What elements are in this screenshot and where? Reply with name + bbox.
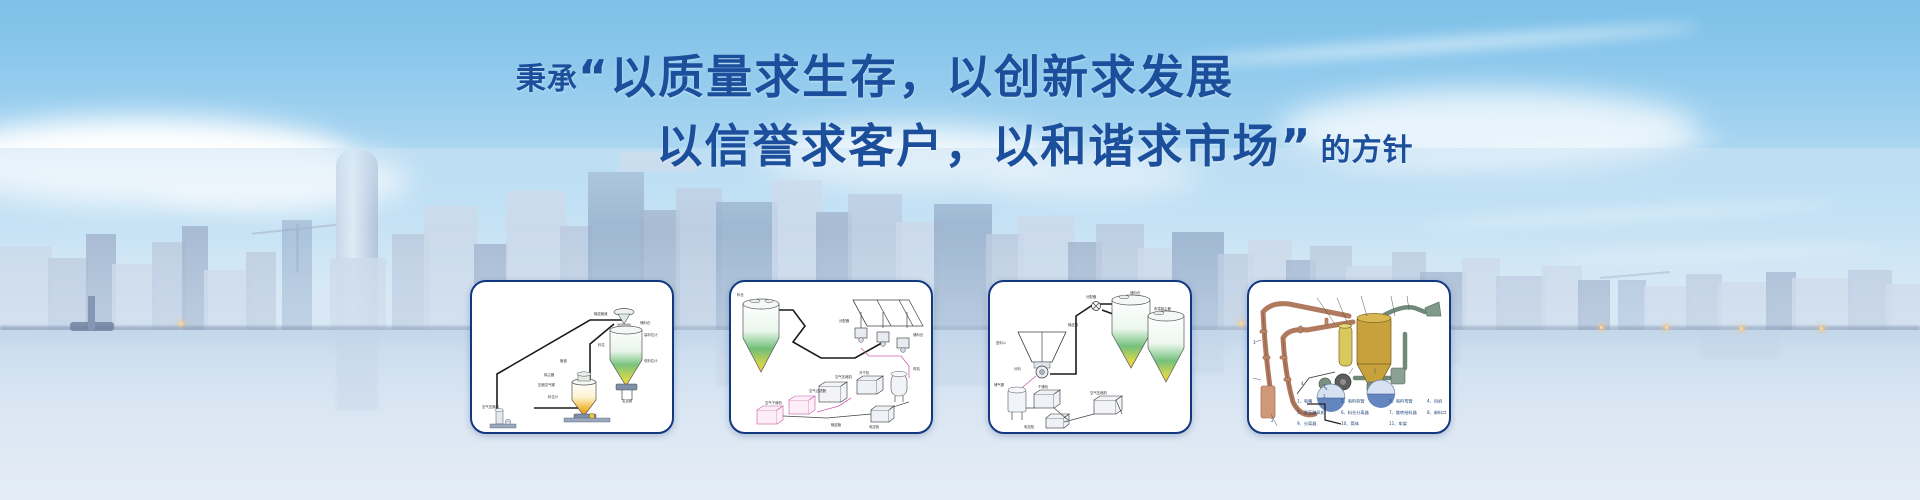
svg-text:4、风机: 4、风机 [1427, 398, 1443, 405]
svg-text:电控柜: 电控柜 [869, 424, 880, 429]
product-card-row: 输送管道 储料仓 高料位计 低料位计 料位 发送罐 除尘器 压缩空气罐 料位计 … [0, 280, 1920, 434]
svg-text:10、筒体: 10、筒体 [1341, 420, 1360, 427]
svg-text:除尘器: 除尘器 [544, 372, 555, 377]
svg-text:冷干机: 冷干机 [859, 370, 870, 375]
svg-text:低料位计: 低料位计 [644, 358, 658, 363]
svg-text:8、卸料口: 8、卸料口 [1427, 409, 1446, 416]
construction-crane-2 [1600, 271, 1670, 279]
svg-text:2: 2 [1271, 418, 1274, 423]
svg-text:2、吸料软管: 2、吸料软管 [1341, 398, 1365, 405]
svg-text:风机: 风机 [913, 366, 920, 371]
svg-text:空气干燥机: 空气干燥机 [765, 400, 783, 405]
product-card-2[interactable]: 料仓 分配器 储料仓 风机 冷干机 空气压缩机 空气过滤器 空气干燥机 电控柜 … [729, 280, 933, 434]
svg-text:料仓: 料仓 [737, 292, 744, 297]
svg-text:分配器: 分配器 [839, 318, 850, 323]
diagram-pneumatic-conveying-1: 输送管道 储料仓 高料位计 低料位计 料位 发送罐 除尘器 压缩空气罐 料位计 … [472, 282, 672, 432]
svg-text:分配器: 分配器 [1086, 294, 1097, 299]
svg-text:干燥机: 干燥机 [1038, 384, 1049, 389]
svg-text:压缩空气罐: 压缩空气罐 [538, 382, 556, 387]
product-card-1[interactable]: 输送管道 储料仓 高料位计 低料位计 料位 发送罐 除尘器 压缩空气罐 料位计 … [470, 280, 674, 434]
svg-text:输送管: 输送管 [1068, 322, 1079, 327]
svg-text:进料斗: 进料斗 [996, 340, 1007, 345]
svg-text:分料: 分料 [1014, 366, 1021, 371]
svg-text:空气压缩机: 空气压缩机 [482, 404, 500, 409]
svg-text:2: 2 [1323, 394, 1326, 399]
svg-text:储料仓: 储料仓 [913, 332, 924, 337]
svg-text:布袋除尘器: 布袋除尘器 [1154, 306, 1172, 311]
diagram-pneumatic-conveying-2: 料仓 分配器 储料仓 风机 冷干机 空气压缩机 空气过滤器 空气干燥机 电控柜 … [731, 282, 931, 432]
svg-text:电控柜: 电控柜 [1024, 424, 1035, 429]
product-card-4[interactable]: 1 2 x 4 2 1 1、吸嘴 2、吸料软管 3、吸料弯管 4、风机 5、罗茨… [1247, 280, 1451, 434]
svg-text:11、车架: 11、车架 [1389, 420, 1407, 427]
hero-banner: 秉承“以质量求生存，以创新求发展 以信誉求客户，以和谐求市场”的方针 [0, 0, 1920, 500]
svg-text:空气过滤器: 空气过滤器 [809, 388, 827, 393]
diagram-pneumatic-conveying-3: 分配器 输送管 进料斗 分料 储料仓 布袋除尘器 储气罐 干燥机 空气压缩机 电… [990, 282, 1190, 432]
svg-text:1、吸嘴: 1、吸嘴 [1297, 398, 1313, 405]
svg-text:7、旋转给料器: 7、旋转给料器 [1389, 409, 1418, 416]
svg-text:空气压缩机: 空气压缩机 [835, 374, 853, 379]
svg-text:储气罐: 储气罐 [994, 382, 1005, 387]
building-crown [620, 152, 696, 172]
svg-text:1: 1 [1253, 340, 1256, 345]
svg-text:输送管: 输送管 [831, 422, 842, 427]
svg-text:高料位计: 高料位计 [644, 332, 658, 337]
svg-text:4: 4 [1301, 381, 1304, 386]
svg-text:料位: 料位 [598, 342, 605, 347]
svg-text:储料仓: 储料仓 [640, 320, 651, 325]
svg-text:3、吸料弯管: 3、吸料弯管 [1389, 398, 1413, 405]
svg-text:空气压缩机: 空气压缩机 [1090, 390, 1108, 395]
svg-text:5、罗茨鼓风机: 5、罗茨鼓风机 [1297, 409, 1326, 416]
svg-text:输送管道: 输送管道 [594, 311, 608, 316]
svg-text:储料仓: 储料仓 [1130, 290, 1141, 295]
product-card-3[interactable]: 分配器 输送管 进料斗 分料 储料仓 布袋除尘器 储气罐 干燥机 空气压缩机 电… [988, 280, 1192, 434]
svg-text:料位计: 料位计 [548, 394, 559, 399]
svg-text:6、料仓分离器: 6、料仓分离器 [1341, 409, 1370, 416]
diagram-equipment-legend: 1 2 x 4 2 1 1、吸嘴 2、吸料软管 3、吸料弯管 4、风机 5、罗茨… [1249, 282, 1449, 432]
svg-text:管道: 管道 [560, 358, 567, 363]
svg-text:发送罐: 发送罐 [622, 398, 633, 403]
svg-text:9、分离器: 9、分离器 [1297, 420, 1317, 427]
